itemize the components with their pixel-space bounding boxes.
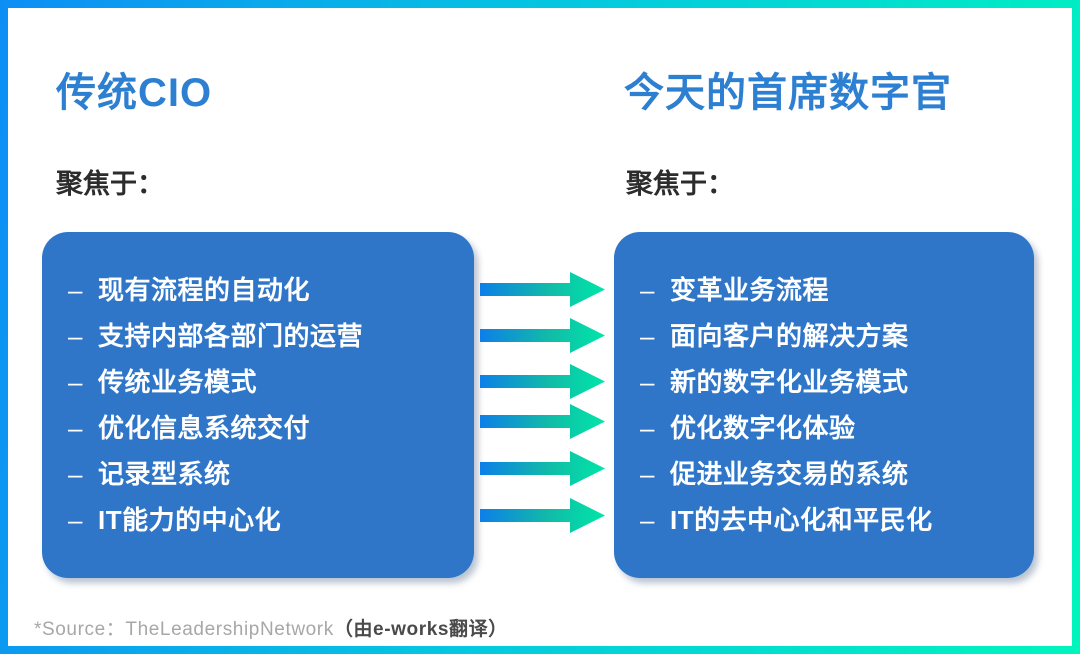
list-item: – 现有流程的自动化 [68,270,474,316]
dash-marker: – [640,367,670,398]
dash-marker: – [640,413,670,444]
arrows-svg [474,266,610,556]
slide-frame: 传统CIO 今天的首席数字官 聚焦于： 聚焦于： – 现有流程的自动化 – 支持… [0,0,1080,654]
dash-marker: – [68,505,98,536]
dash-marker: – [640,275,670,306]
dash-marker: – [640,505,670,536]
list-item-label: 传统业务模式 [98,362,257,399]
right-list-panel: – 变革业务流程 – 面向客户的解决方案 – 新的数字化业务模式 – 优化数字化… [614,232,1034,578]
dash-marker: – [640,459,670,490]
right-focus-label: 聚焦于： [626,162,734,201]
list-item: – 记录型系统 [68,454,474,500]
list-item: – 优化信息系统交付 [68,408,474,454]
list-item-label: 变革业务流程 [670,270,829,307]
left-list-panel: – 现有流程的自动化 – 支持内部各部门的运营 – 传统业务模式 – 优化信息系… [42,232,474,578]
list-item: – IT的去中心化和平民化 [640,500,1034,546]
list-item-label: 新的数字化业务模式 [670,362,909,399]
list-item-label: 促进业务交易的系统 [670,454,909,491]
arrow-right-icon [480,404,605,439]
list-item-label: 优化数字化体验 [670,408,856,445]
slide-canvas: 传统CIO 今天的首席数字官 聚焦于： 聚焦于： – 现有流程的自动化 – 支持… [8,8,1072,646]
arrow-group [474,266,610,556]
left-column-title: 传统CIO [56,60,212,118]
dash-marker: – [68,275,98,306]
list-item-label: 支持内部各部门的运营 [98,316,363,353]
arrow-right-icon [480,498,605,533]
source-text: *Source：TheLeadershipNetwork [34,619,334,640]
dash-marker: – [68,459,98,490]
list-item: – 传统业务模式 [68,362,474,408]
list-item: – 优化数字化体验 [640,408,1034,454]
list-item-label: 现有流程的自动化 [98,270,310,307]
source-note: *Source：TheLeadershipNetwork（由e-works翻译） [34,614,508,641]
list-item: – 支持内部各部门的运营 [68,316,474,362]
arrow-right-icon [480,364,605,399]
dash-marker: – [68,367,98,398]
dash-marker: – [640,321,670,352]
arrow-right-icon [480,272,605,307]
list-item-label: 优化信息系统交付 [98,408,310,445]
list-item: – 面向客户的解决方案 [640,316,1034,362]
list-item: – 新的数字化业务模式 [640,362,1034,408]
list-item-label: 记录型系统 [98,454,231,491]
dash-marker: – [68,321,98,352]
dash-marker: – [68,413,98,444]
list-item: – IT能力的中心化 [68,500,474,546]
list-item-label: IT的去中心化和平民化 [670,500,933,537]
right-column-title: 今天的首席数字官 [624,60,952,118]
arrow-right-icon [480,318,605,353]
list-item-label: 面向客户的解决方案 [670,316,909,353]
list-item: – 促进业务交易的系统 [640,454,1034,500]
list-item-label: IT能力的中心化 [98,500,281,537]
list-item: – 变革业务流程 [640,270,1034,316]
arrow-right-icon [480,451,605,486]
translator-note: （由e-works翻译） [334,619,508,640]
left-focus-label: 聚焦于： [56,162,164,201]
